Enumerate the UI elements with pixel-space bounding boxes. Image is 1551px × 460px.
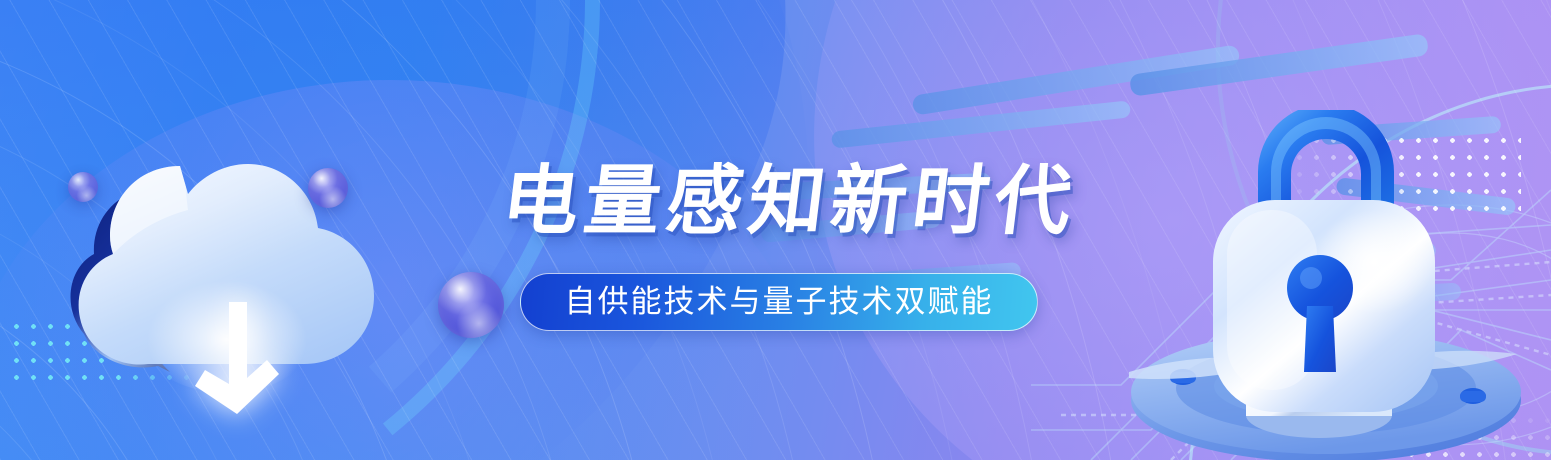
sphere-small-top [308, 168, 348, 208]
sphere-tiny-left [68, 172, 98, 202]
download-arrow-icon [193, 298, 283, 418]
sphere-medium-center [438, 272, 504, 338]
subtitle-text: 自供能技术与量子技术双赋能 [565, 287, 994, 318]
padlock-illustration [1121, 110, 1521, 460]
padlock-icon [1121, 110, 1521, 460]
promotional-banner: 电量感知新时代 自供能技术与量子技术双赋能 [0, 0, 1551, 460]
page-title: 电量感知新时代 [498, 163, 1081, 239]
subtitle-badge: 自供能技术与量子技术双赋能 [520, 273, 1038, 331]
